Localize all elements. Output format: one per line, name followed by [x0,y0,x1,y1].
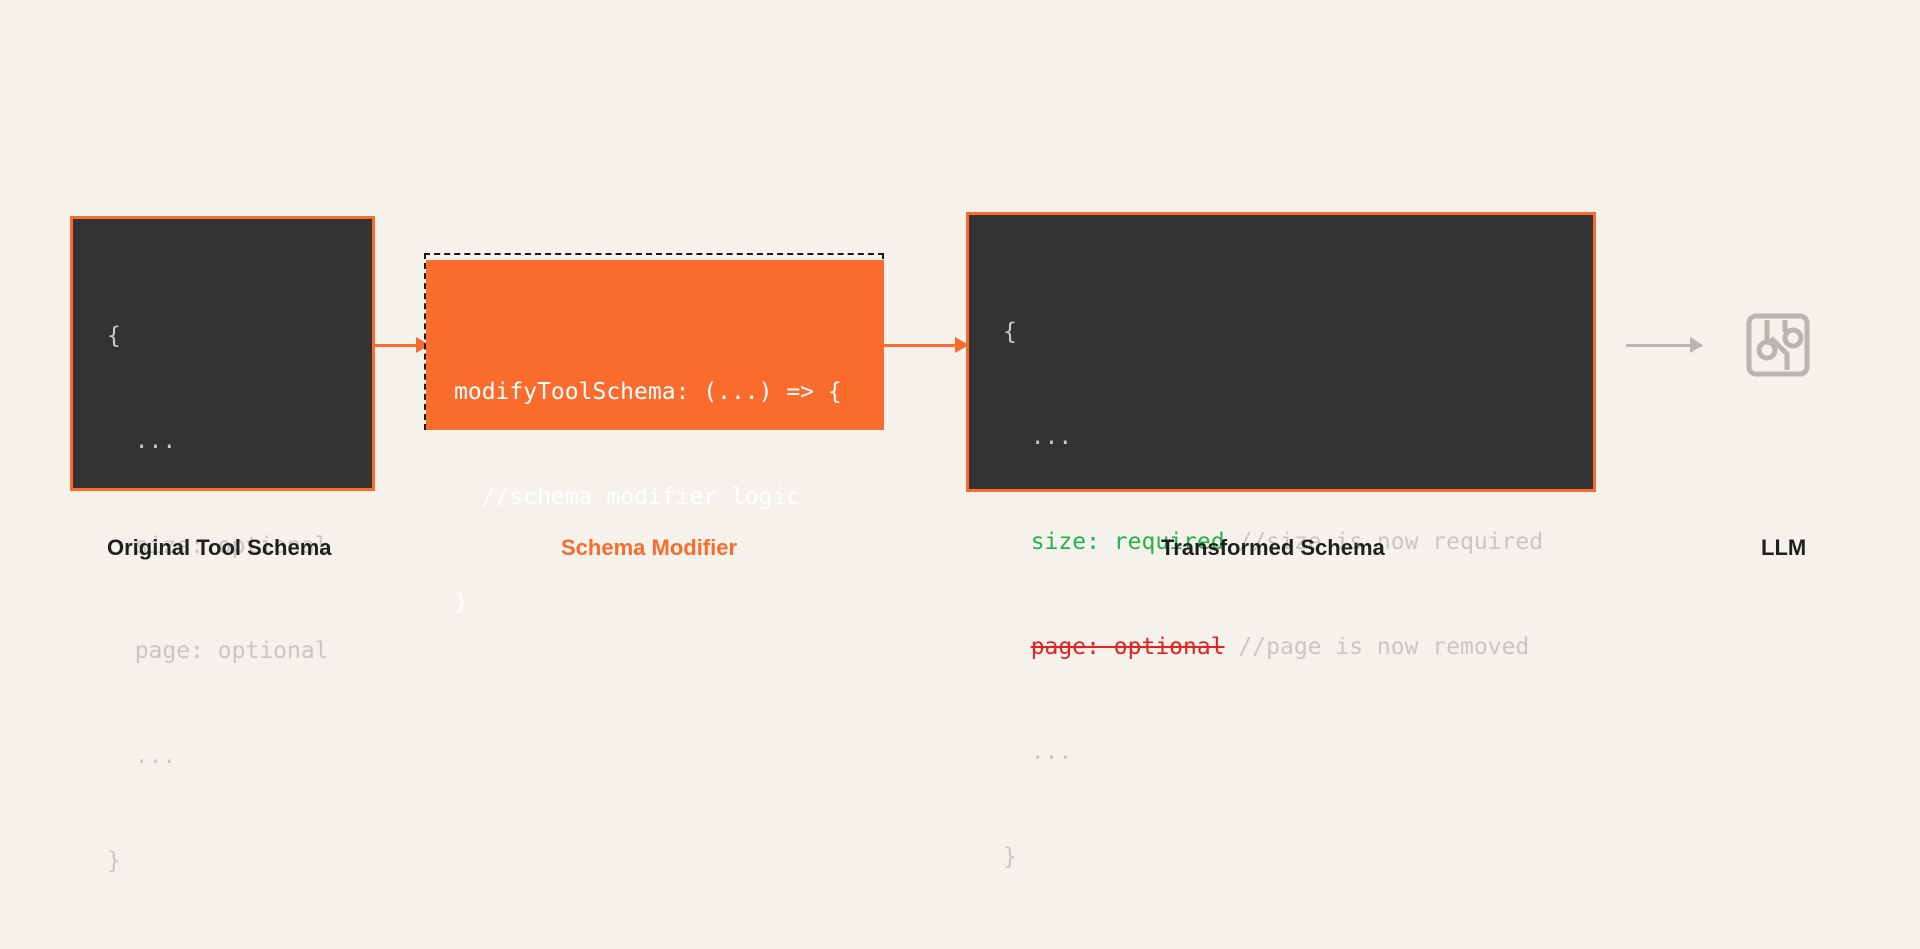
code-token-removed: page: optional [1031,634,1225,660]
code-line: } [107,844,329,879]
transformed-schema-panel: { ... size: required //size is now requi… [966,212,1596,492]
code-line: modifyToolSchema: (...) => { [454,375,842,410]
code-line: ... [107,424,329,459]
code-line: page: optional //page is now removed [1003,630,1543,665]
code-line: ... [1003,420,1543,455]
schema-modifier-code: modifyToolSchema: (...) => { //schema mo… [454,305,842,690]
original-schema-code: { ... size: optional page: optional ... … [107,249,329,949]
transformed-schema-code: { ... size: required //size is now requi… [1003,245,1543,945]
schema-modifier-panel: modifyToolSchema: (...) => { //schema mo… [426,260,884,430]
code-token: ... [1031,739,1073,765]
code-comment: //page is now removed [1225,634,1530,660]
arrow-head [1690,337,1703,353]
arrow-original-to-modifier [375,344,429,347]
caption-llm: LLM [1761,535,1806,561]
original-schema-panel: { ... size: optional page: optional ... … [70,216,375,491]
code-line: page: optional [107,634,329,669]
caption-transformed-schema: Transformed Schema [1161,535,1385,561]
code-line: } [454,585,842,620]
code-token: { [1003,319,1017,345]
arrow-modifier-to-transformed [884,344,968,347]
code-line: ... [1003,735,1543,770]
code-line: //schema modifier logic [454,480,842,515]
code-line: { [1003,315,1543,350]
caption-schema-modifier: Schema Modifier [561,535,737,561]
code-line: ... [107,739,329,774]
code-line: } [1003,840,1543,875]
arrow-transformed-to-llm [1626,344,1702,347]
diagram-canvas: { ... size: optional page: optional ... … [0,0,1920,758]
code-line: { [107,319,329,354]
code-token: } [1003,844,1017,870]
code-token: ... [1031,424,1073,450]
caption-original-tool-schema: Original Tool Schema [107,535,332,561]
chip-circuit-icon [1745,312,1811,378]
